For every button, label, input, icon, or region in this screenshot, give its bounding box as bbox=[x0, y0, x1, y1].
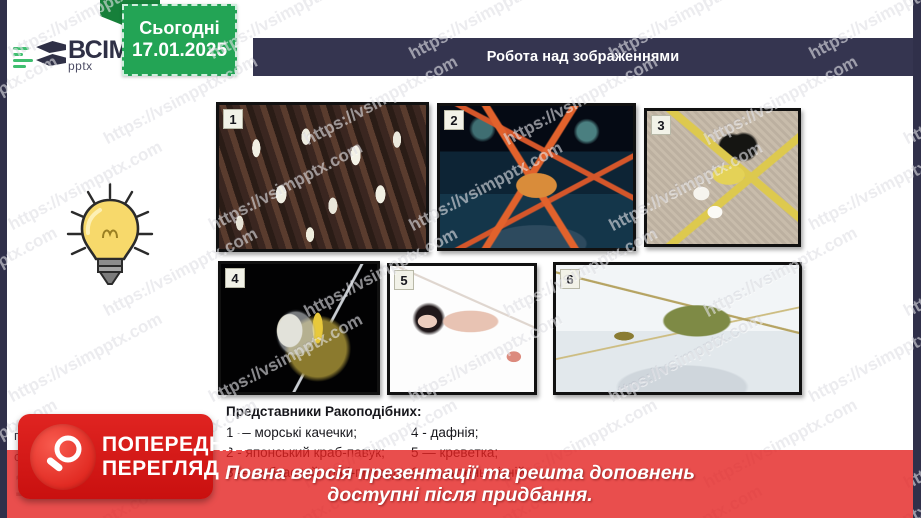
ribbon-line-2: доступні після придбання. bbox=[327, 484, 592, 506]
light-bulb-icon bbox=[60, 178, 160, 298]
slide-header-bar: Робота над зображеннями bbox=[253, 38, 913, 76]
preview-badge[interactable]: ПОПЕРЕДНІЙ ПЕРЕГЛЯД bbox=[18, 414, 213, 499]
speed-lines-icon bbox=[13, 41, 35, 71]
tadpole-shrimp-photo bbox=[556, 265, 799, 392]
caption-row: 1 — морські качечки; 4 - дафнія; bbox=[226, 425, 901, 440]
gallery-number-4: 4 bbox=[225, 268, 245, 288]
date-stamp-label: Сьогодні bbox=[124, 17, 235, 40]
gallery-item-6[interactable]: 6 bbox=[553, 262, 802, 395]
gallery-number-6: 6 bbox=[560, 269, 580, 289]
gallery-number-5: 5 bbox=[394, 270, 414, 290]
graduation-cap-icon bbox=[36, 39, 66, 73]
magnifier-badge-circle bbox=[30, 424, 96, 490]
preview-line-2: ПЕРЕГЛЯД bbox=[102, 458, 247, 479]
slide-canvas: ВСІМ pptx Сьогодні 17.01.2025 Робота над… bbox=[0, 0, 921, 518]
gallery-item-3[interactable]: 3 bbox=[644, 108, 801, 247]
gallery-number-3: 3 bbox=[651, 115, 671, 135]
brand-logo: ВСІМ pptx bbox=[7, 32, 132, 80]
brand-logo-text: ВСІМ pptx bbox=[68, 39, 129, 72]
japanese-spider-crab-photo bbox=[440, 106, 633, 248]
caption-left-1: 1 — морські качечки; bbox=[226, 425, 411, 440]
page-title: Робота над зображеннями bbox=[487, 49, 680, 65]
ribbon-line-1: Повна версія презентації та решта доповн… bbox=[225, 462, 695, 484]
caption-heading: Представники Ракоподібних: bbox=[226, 404, 901, 419]
goose-barnacles-photo bbox=[219, 105, 426, 249]
date-stamp-value: 17.01.2025 bbox=[124, 39, 235, 63]
gallery-number-2: 2 bbox=[444, 110, 464, 130]
gallery-number-1: 1 bbox=[223, 109, 243, 129]
gallery-item-5[interactable]: 5 bbox=[387, 263, 537, 395]
gallery-item-4[interactable]: 4 bbox=[218, 261, 380, 395]
preview-badge-text: ПОПЕРЕДНІЙ ПЕРЕГЛЯД bbox=[102, 434, 247, 479]
preview-line-1: ПОПЕРЕДНІЙ bbox=[102, 434, 247, 455]
caption-right-1: 4 - дафнія; bbox=[411, 425, 901, 440]
today-date-stamp: Сьогодні 17.01.2025 bbox=[122, 4, 237, 76]
magnifier-icon bbox=[42, 434, 86, 480]
gallery-item-2[interactable]: 2 bbox=[437, 103, 636, 251]
gallery-item-1[interactable]: 1 bbox=[216, 102, 429, 252]
